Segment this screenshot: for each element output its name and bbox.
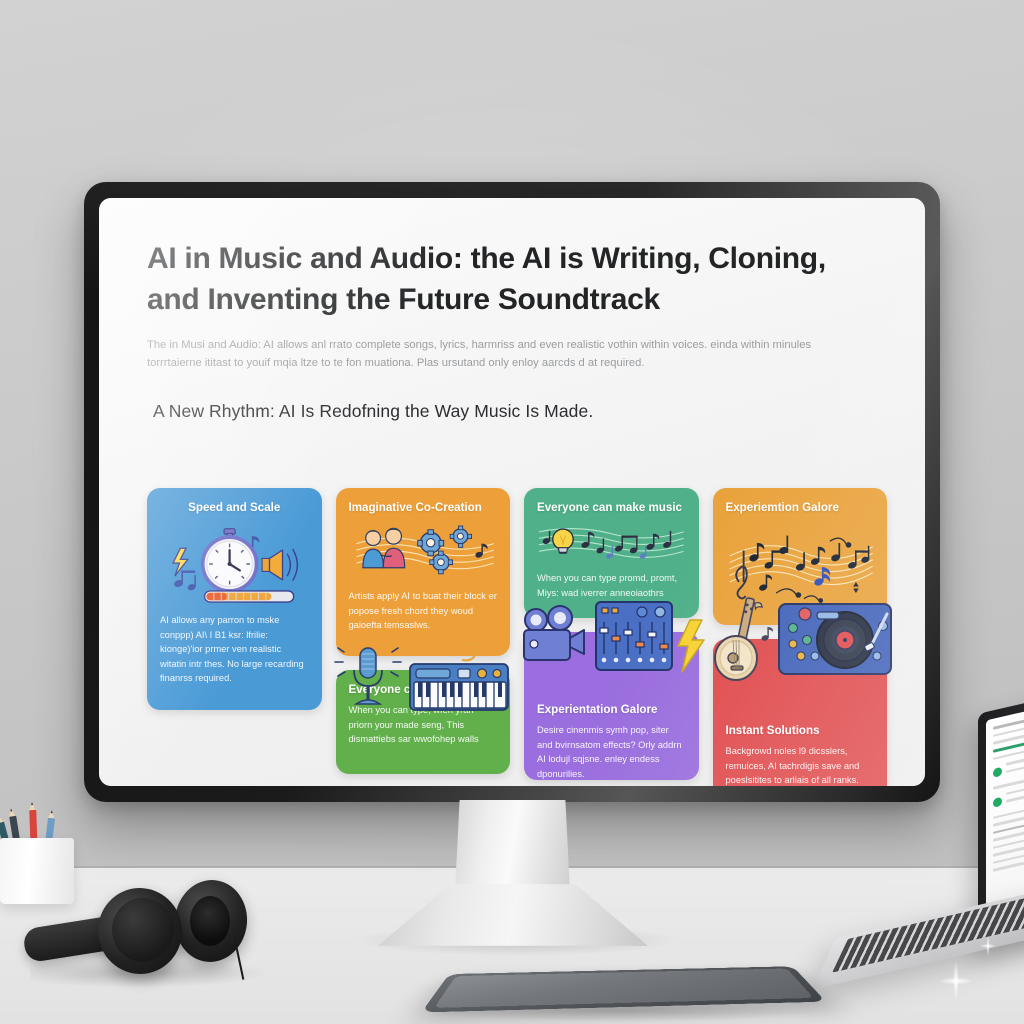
lightbulb-notes-illustration <box>537 521 686 565</box>
card-body: When you can type promd, promt, Miys: wa… <box>537 571 686 600</box>
card-artwork-everyone <box>537 521 686 565</box>
card-column-2: Imaginative Co-Creation <box>336 488 511 786</box>
card-artwork-cocreation <box>349 521 498 583</box>
two-people-icon <box>362 529 404 568</box>
laptop-ui-lines <box>1006 744 1024 778</box>
card-body: When you can type, wfen yran priorn your… <box>349 703 498 746</box>
card-column-3: Everyone can make music <box>524 488 699 786</box>
stopwatch-icon <box>203 529 257 591</box>
section-subheading: A New Rhythm: AI Is Redofning the Way Mu… <box>153 401 881 422</box>
speaker-icon <box>254 550 298 582</box>
laptop-ui-lines <box>1006 774 1024 808</box>
page-title: AI in Music and Audio: the AI is Writing… <box>147 238 881 321</box>
monitor-screen[interactable]: AI in Music and Audio: the AI is Writing… <box>99 198 925 786</box>
card-title: Speed and Scale <box>160 501 309 515</box>
card-title: Everyone can make music <box>537 501 686 515</box>
card-column-1: Speed and Scale <box>147 488 322 786</box>
stopwatch-illustration <box>160 521 309 607</box>
card-experiemtion-galore[interactable]: Experiemtion Galore <box>713 488 888 625</box>
card-title: Experiemtion Galore <box>726 501 875 515</box>
music-note-icon <box>474 544 487 559</box>
avatar-icon <box>993 796 1002 807</box>
staff-notes-illustration <box>726 521 875 617</box>
card-everyone-can-make-music-top[interactable]: Everyone can make music <box>524 488 699 618</box>
card-artwork-experiemtion <box>726 521 875 617</box>
desk-scene: AI in Music and Audio: the AI is Writing… <box>0 0 1024 1024</box>
card-title: Imaginative Co-Creation <box>349 501 498 515</box>
avatar-icon <box>993 767 1002 778</box>
lightbulb-icon <box>553 530 573 554</box>
monitor-stand-neck <box>455 800 570 892</box>
headphone-earcup-right-pad <box>190 896 230 946</box>
card-body: Artists apply AI to buat their block er … <box>349 589 498 632</box>
intro-paragraph: The in Musi and Audio: AI allows anl rra… <box>147 336 847 372</box>
card-body: AI allows any parron to mske conppp) AI\… <box>160 613 309 685</box>
cocreation-illustration <box>349 521 498 583</box>
over-ear-headphones[interactable] <box>20 876 260 996</box>
card-experientation-galore[interactable]: Experientation Galore Desire cinenmis sy… <box>524 632 699 780</box>
progress-bar-icon <box>205 591 294 602</box>
gear-icon-2 <box>450 526 471 547</box>
card-imaginative-co-creation[interactable]: Imaginative Co-Creation <box>336 488 511 656</box>
card-body: Desire cinenmis symh pop, siter and bvir… <box>537 723 686 780</box>
laptop-ui-line <box>993 716 1024 729</box>
card-title: Experientation Galore <box>537 703 686 717</box>
card-everyone-can-make-music-bottom[interactable]: Everyone can make music When you can typ… <box>336 670 511 774</box>
tablet[interactable] <box>440 948 812 1024</box>
card-artwork-speed <box>160 521 309 607</box>
card-title: Everyone can make music <box>349 683 498 697</box>
card-speed-and-scale[interactable]: Speed and Scale <box>147 488 322 710</box>
sparkle-icon-small <box>975 930 1001 962</box>
